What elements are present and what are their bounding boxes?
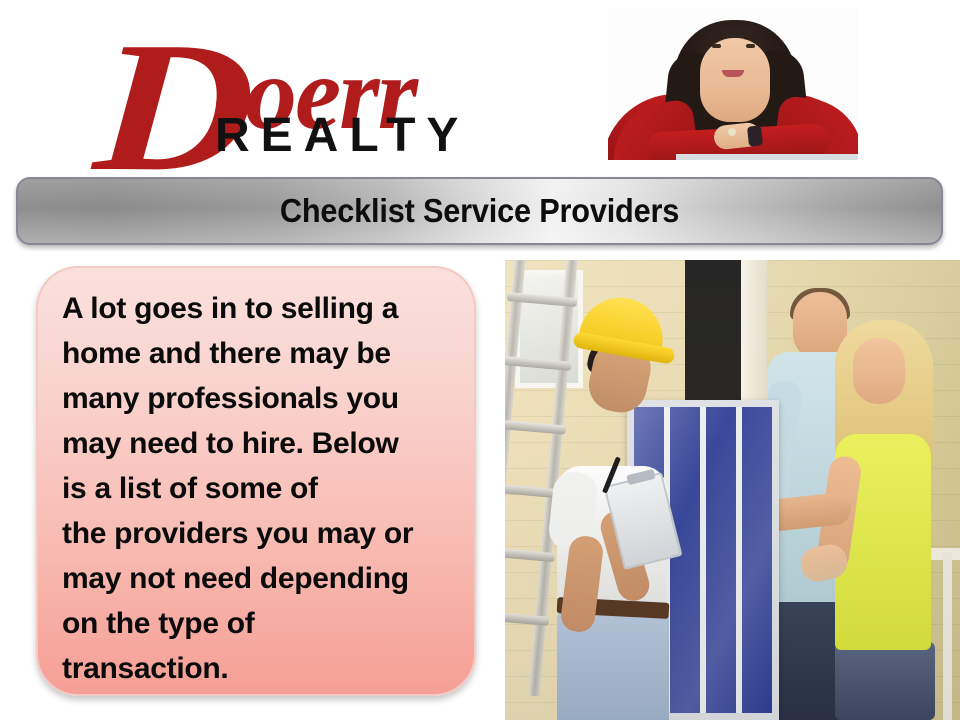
headshot-ring bbox=[728, 128, 736, 136]
agent-headshot bbox=[608, 8, 858, 160]
photo-shading-overlay bbox=[505, 260, 960, 720]
logo-subtitle: REALTY bbox=[215, 112, 469, 160]
body-text-callout: A lot goes in to selling a home and ther… bbox=[36, 266, 476, 696]
body-text: A lot goes in to selling a home and ther… bbox=[62, 286, 462, 691]
headshot-mouth bbox=[722, 70, 744, 77]
doerr-realty-logo: D oerr REALTY bbox=[60, 18, 530, 158]
headshot-eye-right bbox=[746, 44, 755, 48]
headshot-watch bbox=[747, 125, 763, 146]
headshot-table bbox=[676, 154, 858, 160]
slide-title-bar: Checklist Service Providers bbox=[16, 177, 943, 245]
solar-installer-photo bbox=[505, 260, 960, 720]
headshot-eye-left bbox=[712, 44, 721, 48]
slide: D oerr REALTY Checklist Service Provider… bbox=[0, 0, 960, 720]
page-title: Checklist Service Providers bbox=[50, 192, 908, 230]
logo-initial-d: D bbox=[96, 14, 222, 200]
logo-initial-glyph: D bbox=[90, 14, 251, 200]
headshot-face bbox=[700, 38, 770, 122]
